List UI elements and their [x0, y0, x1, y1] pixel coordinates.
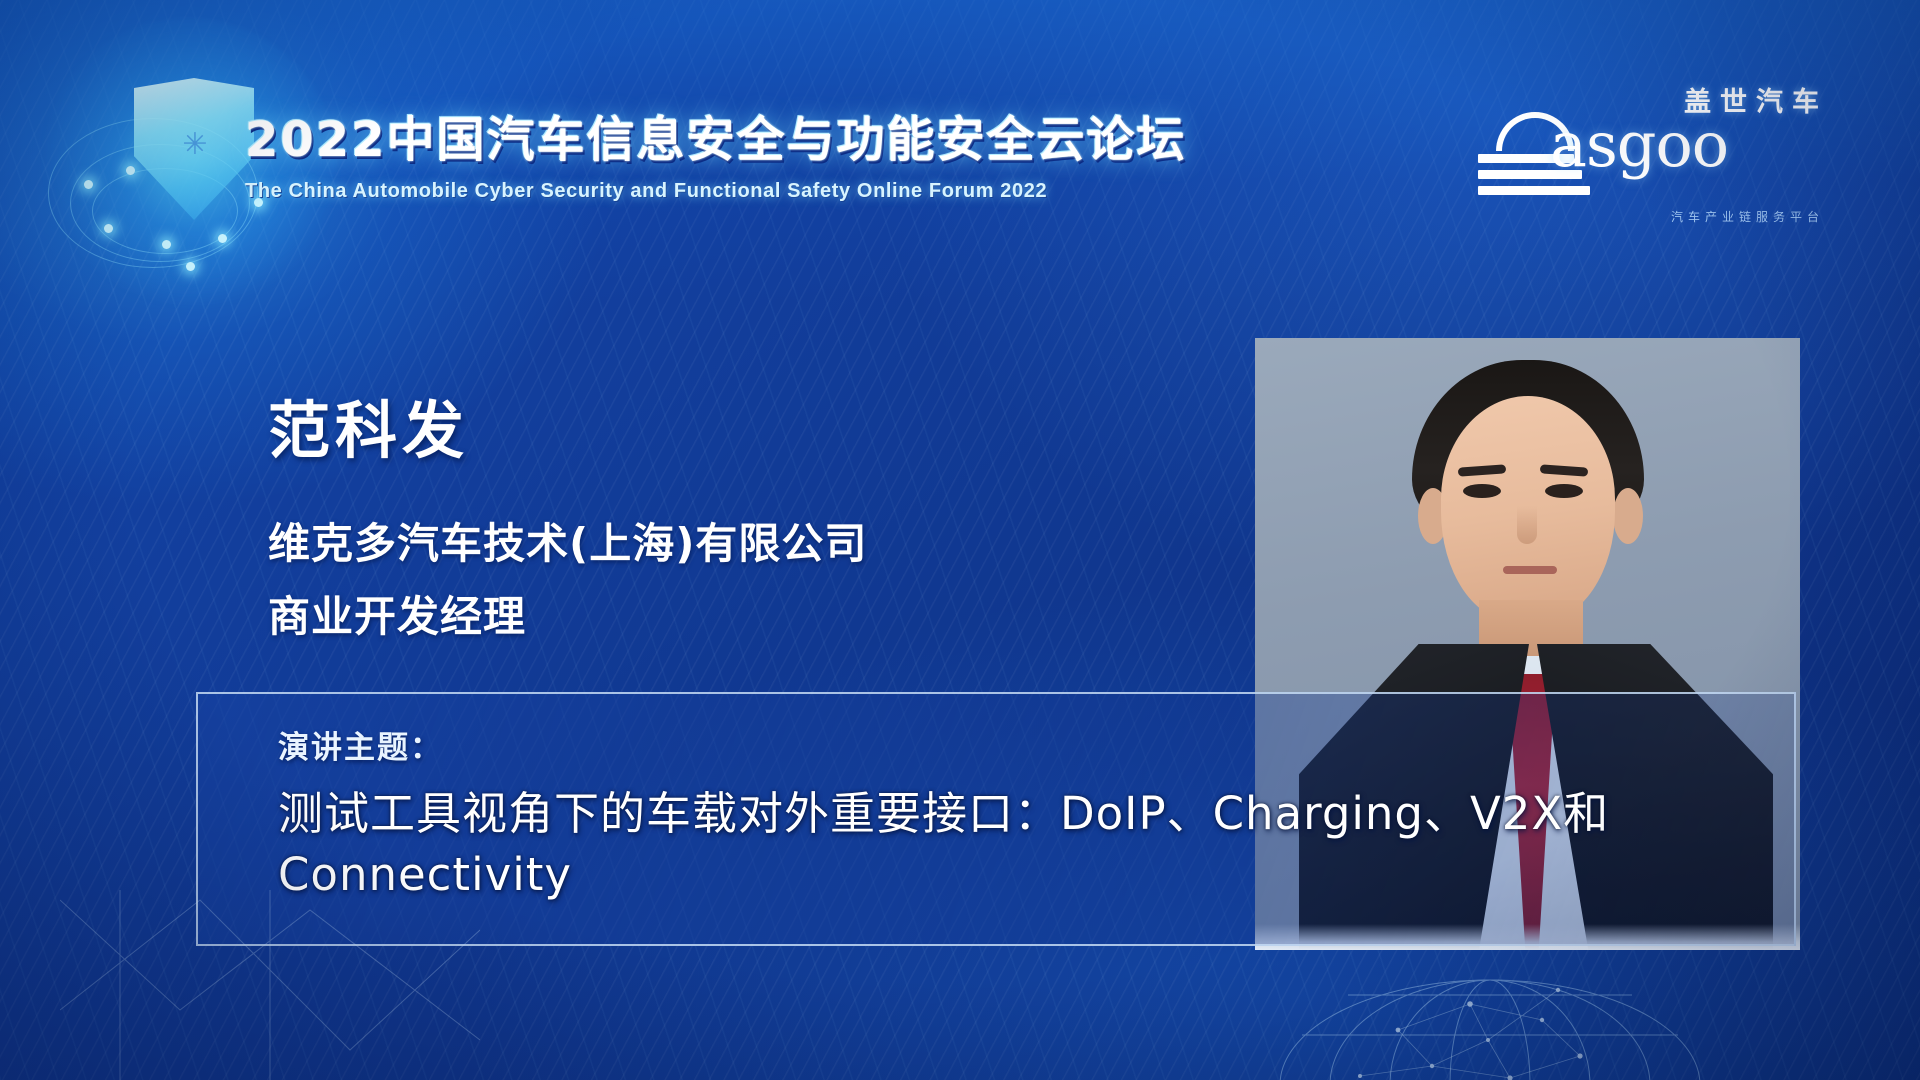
circuit-node — [186, 262, 195, 271]
portrait-ear-right — [1613, 488, 1643, 544]
shield-star-icon: ✳ — [178, 128, 212, 162]
circuit-node — [126, 166, 135, 175]
circuit-node — [84, 180, 93, 189]
gasgoo-logo-icon: 盖世汽车 asgoo 汽车产业链服务平台 — [1472, 72, 1832, 242]
brand-word-mark: asgoo — [1550, 108, 1728, 181]
circuit-node — [162, 240, 171, 249]
speaker-company: 维克多汽车技术(上海)有限公司 — [268, 510, 867, 571]
topic-label: 演讲主题： — [278, 722, 443, 767]
circuit-node — [218, 234, 227, 243]
portrait-eye-left — [1463, 484, 1501, 498]
speaker-name: 范科发 — [268, 380, 469, 470]
portrait-nose — [1517, 506, 1537, 544]
event-title-block: 2022中国汽车信息安全与功能安全云论坛 The China Automobil… — [245, 100, 1245, 203]
presentation-topic-box: 演讲主题： 测试工具视角下的车载对外重要接口：DoIP、Charging、V2X… — [196, 692, 1796, 946]
portrait-eye-right — [1545, 484, 1583, 498]
topic-text: 测试工具视角下的车载对外重要接口：DoIP、Charging、V2X和Conne… — [278, 784, 1758, 906]
brand-tagline: 汽车产业链服务平台 — [1671, 208, 1824, 225]
event-main-title: 2022中国汽车信息安全与功能安全云论坛 — [245, 100, 1245, 170]
event-sub-title: The China Automobile Cyber Security and … — [245, 180, 1245, 203]
slide-canvas: ✳ 2022中国汽车信息安全与功能安全云论坛 The China Automob… — [0, 0, 1920, 1080]
gasgoo-bar-icon — [1478, 186, 1590, 195]
circuit-node — [104, 224, 113, 233]
portrait-mouth — [1503, 566, 1557, 574]
speaker-role: 商业开发经理 — [268, 583, 526, 644]
